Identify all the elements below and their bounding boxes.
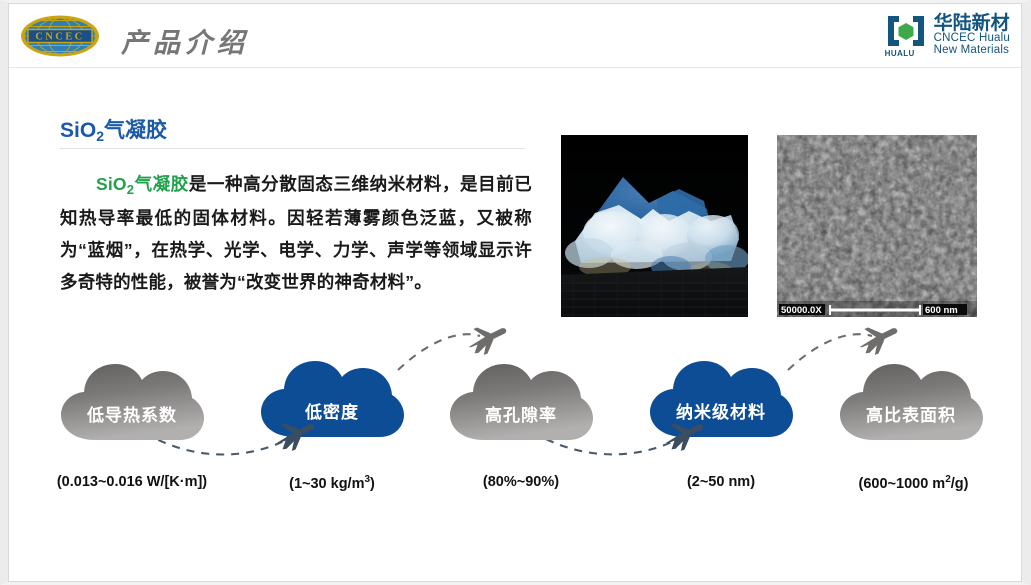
property-caption-2: (1~30 kg/m3) (232, 474, 432, 492)
airplane-icon-3 (661, 418, 705, 452)
property-caption-5: (600~1000 m2/g) (806, 474, 1021, 492)
property-cloud-3[interactable]: 高孔隙率 (448, 360, 594, 444)
property-cloud-5[interactable]: 高比表面积 (838, 360, 984, 444)
property-caption-5-post: /g) (951, 476, 969, 492)
property-caption-4: (2~50 nm) (621, 474, 821, 490)
slide-root: CNCEC 产品介绍 HUALU 华陆新材 CNCEC Hualu New Ma… (0, 0, 1031, 585)
property-caption-2-pre: (1~30 kg/m (289, 476, 364, 492)
property-caption-3: (80%~90%) (421, 474, 621, 490)
property-caption-1: (0.013~0.016 W/[K·m]) (27, 474, 237, 490)
property-caption-5-pre: (600~1000 m (859, 476, 946, 492)
cloud-shape-gray (838, 360, 984, 444)
property-cloud-1[interactable]: 低导热系数 (59, 360, 205, 444)
properties-diagram: 低导热系数 低密度 高孔隙率 纳米级材料 (0, 0, 1031, 585)
airplane-icon-4 (855, 322, 899, 356)
cloud-shape-gray (448, 360, 594, 444)
property-caption-2-post: ) (370, 476, 375, 492)
cloud-gradient-defs (0, 0, 1031, 585)
airplane-icon-1 (272, 418, 316, 452)
cloud-shape-gray (59, 360, 205, 444)
airplane-icon-2 (464, 322, 508, 356)
